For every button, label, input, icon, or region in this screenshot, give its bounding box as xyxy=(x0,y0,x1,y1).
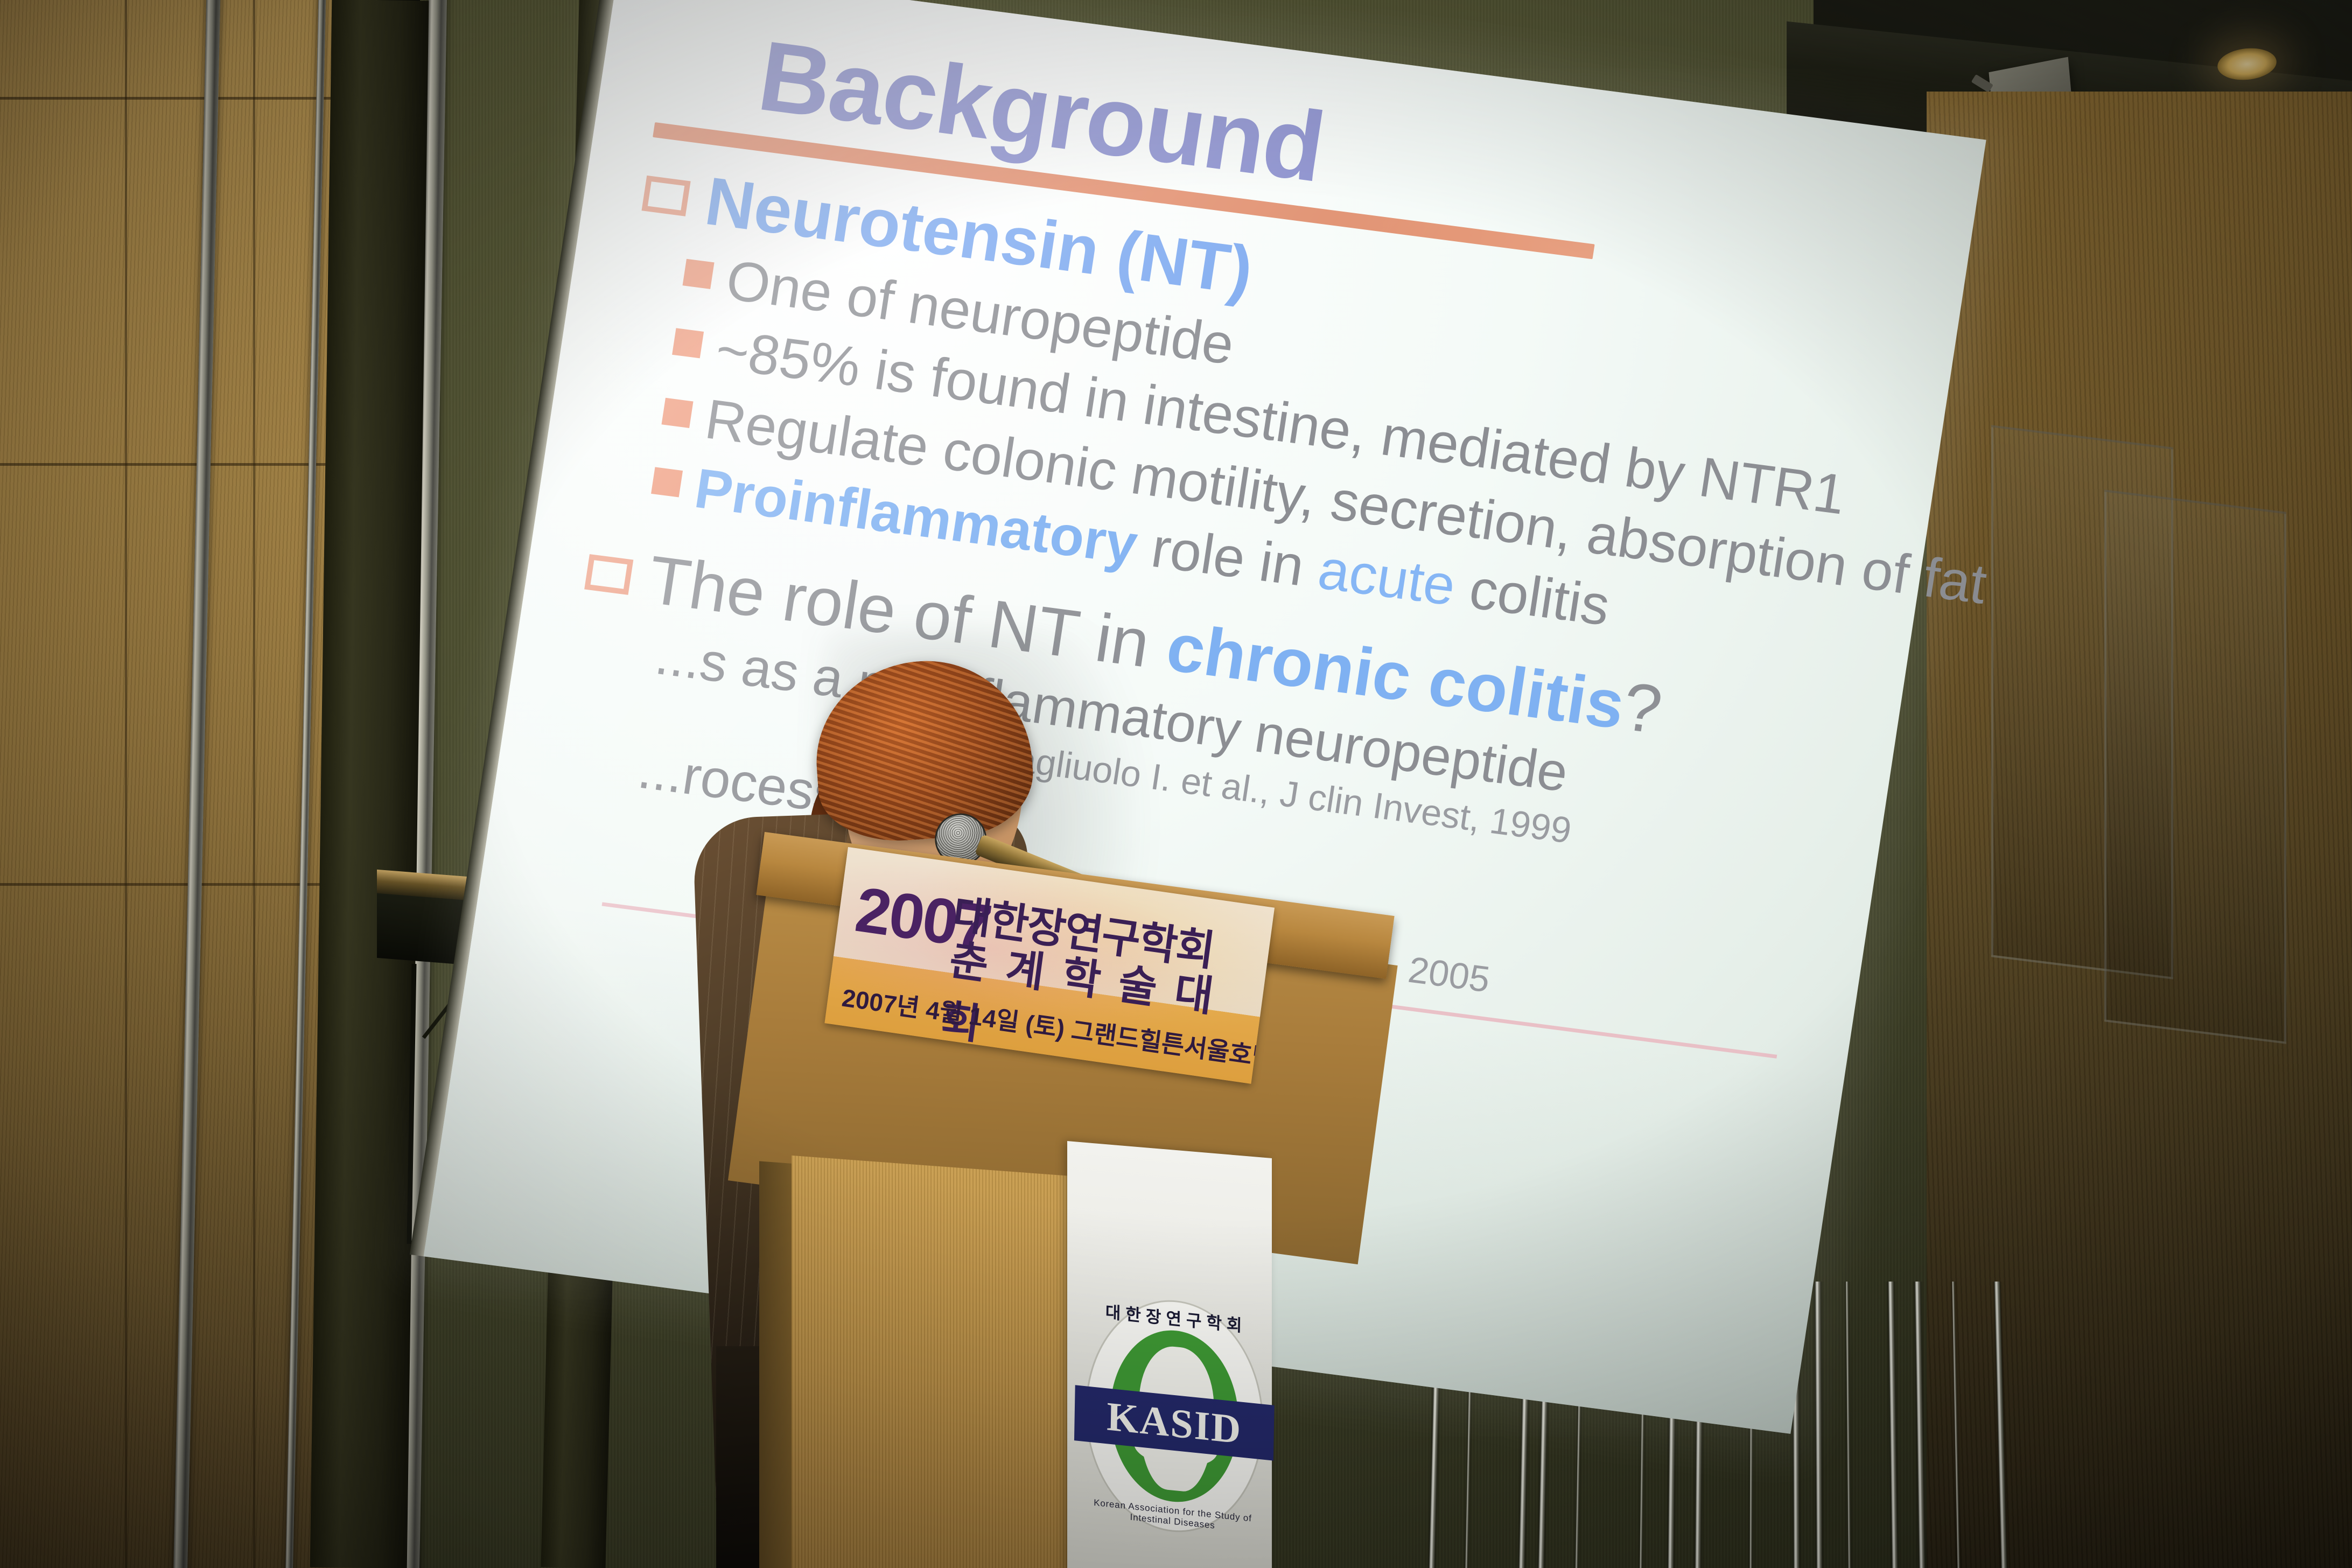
solid-square-bullet-icon xyxy=(672,328,704,358)
list-item-text-part: acute xyxy=(1314,538,1460,617)
podium-lower-body: 대한장연구학회 KASID Korean Association for the… xyxy=(759,1166,1411,1568)
hollow-square-bullet-icon xyxy=(642,176,691,216)
solid-square-bullet-icon xyxy=(662,397,694,428)
list-item-text-part: role in xyxy=(1132,514,1324,600)
podium-wood-panel xyxy=(792,1156,1072,1568)
kasid-acronym: KASID xyxy=(1107,1396,1242,1450)
solid-square-bullet-icon xyxy=(651,467,683,497)
podium: 2007 대한장연구학회 춘 계 학 술 대 회 2007년 4월 14일 (토… xyxy=(765,789,1411,1568)
photo-scene: Background Neurotensin (NT) One of neuro… xyxy=(0,0,2352,1568)
solid-square-bullet-icon xyxy=(683,258,715,289)
list-item-text-part: colitis xyxy=(1450,556,1614,638)
hollow-square-bullet-icon xyxy=(584,554,633,595)
kasid-logo: 대한장연구학회 KASID Korean Association for the… xyxy=(1083,1292,1265,1541)
